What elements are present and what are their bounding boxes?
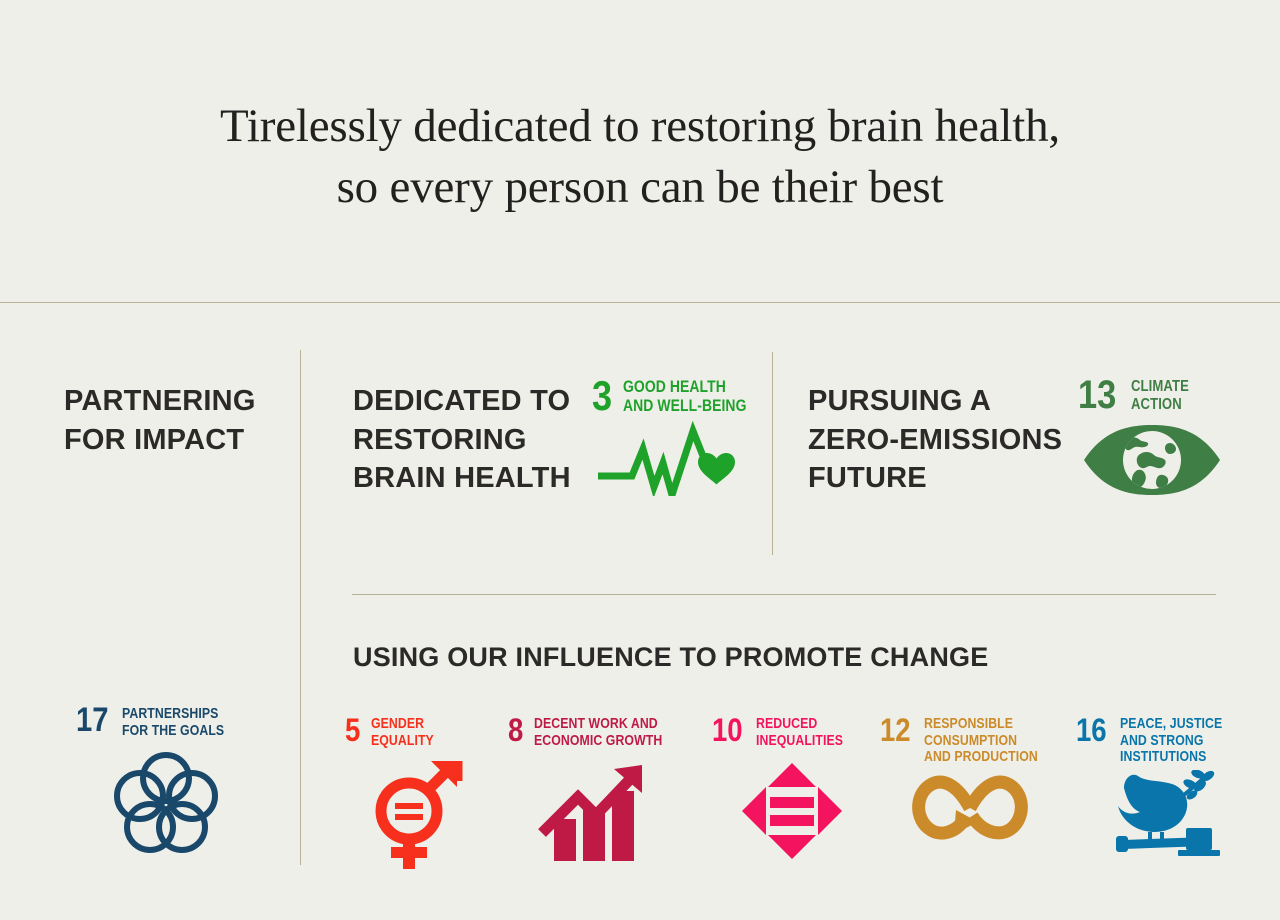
sdg-badge-goal-12: 12 RESPONSIBLE CONSUMPTION AND PRODUCTIO… — [880, 716, 1063, 849]
sdg-13-header: 13 CLIMATE ACTION — [1078, 378, 1222, 413]
infographic-page: Tirelessly dedicated to restoring brain … — [0, 0, 1280, 920]
sdg-13-number: 13 — [1078, 378, 1116, 413]
sdg-badge-goal-5: 5 GENDER EQUALITY — [345, 716, 463, 876]
dove-gavel-icon — [1112, 770, 1244, 861]
sdg-16-label: PEACE, JUSTICE AND STRONG INSTITUTIONS — [1120, 716, 1222, 766]
sdg-badge-goal-16: 16 PEACE, JUSTICE AND STRONG INSTITUTION… — [1076, 716, 1244, 861]
sdg-badge-goal-10: 10 REDUCED INEQUALITIES — [712, 716, 862, 866]
sdg-5-label: GENDER EQUALITY — [371, 716, 434, 749]
sdg-8-label: DECENT WORK AND ECONOMIC GROWTH — [534, 716, 662, 749]
sdg-5-number: 5 — [345, 716, 360, 744]
sdg-3-number: 3 — [592, 378, 612, 415]
headline-line-2: so every person can be their best — [0, 157, 1280, 218]
sdg-10-number: 10 — [712, 716, 743, 744]
equals-arrows-icon — [740, 761, 862, 866]
sdg-17-number: 17 — [76, 706, 109, 736]
section-heading-pursuing-a-zero-emissions-future: PURSUING A ZERO-EMISSIONS FUTURE — [808, 382, 1078, 498]
page-title: Tirelessly dedicated to restoring brain … — [0, 96, 1280, 218]
headline-line-1: Tirelessly dedicated to restoring brain … — [220, 100, 1060, 152]
growth-chart-icon — [538, 761, 690, 866]
sdg-10-header: 10 REDUCED INEQUALITIES — [712, 716, 862, 749]
sdg-badge-goal-3: 3 GOOD HEALTH AND WELL-BEING — [592, 378, 774, 501]
sdg-3-label: GOOD HEALTH AND WELL-BEING — [623, 378, 746, 415]
sdg-8-header: 8 DECENT WORK AND ECONOMIC GROWTH — [508, 716, 690, 749]
sdg-8-number: 8 — [508, 716, 523, 744]
sdg-13-label: CLIMATE ACTION — [1131, 378, 1189, 413]
sdg-17-header: 17 PARTNERSHIPS FOR THE GOALS — [76, 706, 246, 739]
sdg-16-header: 16 PEACE, JUSTICE AND STRONG INSTITUTION… — [1076, 716, 1244, 766]
heartbeat-icon — [596, 421, 774, 501]
gender-equality-icon — [367, 761, 463, 876]
sdg-17-label: PARTNERSHIPS FOR THE GOALS — [122, 706, 224, 739]
divider-vertical-left — [300, 350, 301, 865]
divider-horizontal-middle — [352, 594, 1216, 595]
section-heading-partnering-for-impact: PARTNERING FOR IMPACT — [64, 382, 294, 459]
sdg-badge-goal-17: 17 PARTNERSHIPS FOR THE GOALS — [76, 706, 246, 861]
interlocking-circles-icon — [112, 751, 246, 861]
sdg-12-number: 12 — [880, 716, 911, 744]
globe-eye-icon — [1082, 423, 1222, 502]
section-heading-using-our-influence-to-promote-change: USING OUR INFLUENCE TO PROMOTE CHANGE — [353, 640, 1113, 676]
sdg-12-label: RESPONSIBLE CONSUMPTION AND PRODUCTION — [924, 716, 1038, 766]
sdg-12-header: 12 RESPONSIBLE CONSUMPTION AND PRODUCTIO… — [880, 716, 1063, 766]
sdg-3-header: 3 GOOD HEALTH AND WELL-BEING — [592, 378, 774, 415]
infinity-loop-icon — [906, 772, 1063, 849]
sdg-16-number: 16 — [1076, 716, 1107, 744]
sdg-badge-goal-8: 8 DECENT WORK AND ECONOMIC GROWTH — [508, 716, 690, 866]
sdg-badge-goal-13: 13 CLIMATE ACTION — [1078, 378, 1222, 502]
sdg-10-label: REDUCED INEQUALITIES — [756, 716, 843, 749]
section-heading-dedicated-to-restoring-brain-health: DEDICATED TO RESTORING BRAIN HEALTH — [353, 382, 583, 498]
sdg-5-header: 5 GENDER EQUALITY — [345, 716, 463, 749]
divider-horizontal-top — [0, 302, 1280, 303]
